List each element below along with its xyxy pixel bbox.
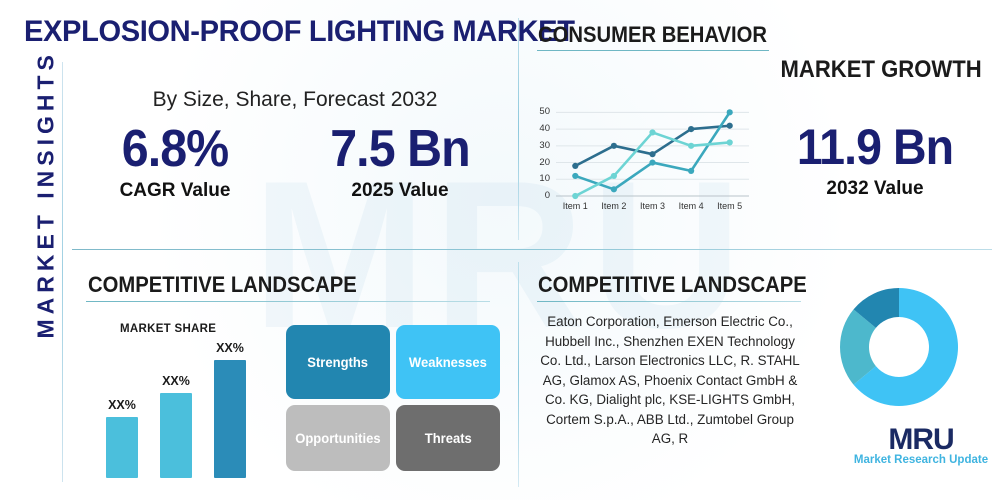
section-rule-competitive-left	[86, 301, 490, 302]
mru-logo: MRU Market Research Update	[852, 424, 990, 466]
page-title: EXPLOSION-PROOF LIGHTING MARKET	[24, 15, 490, 49]
line-chart-y-tick: 50	[532, 106, 550, 117]
swot-threats-label: Threats	[424, 430, 471, 446]
section-rule-competitive-right	[537, 301, 801, 302]
section-heading-competitive-landscape-left: COMPETITIVE LANDSCAPE	[88, 272, 357, 298]
swot-threats: Threats	[396, 405, 500, 471]
market-insights-side-label: MARKET INSIGHTS	[33, 79, 60, 339]
bar-value-label: XX%	[153, 374, 199, 388]
line-chart-x-tick: Item 3	[631, 201, 675, 211]
line-chart-x-tick: Item 1	[553, 201, 597, 211]
kpi-2025: 7.5 Bn 2025 Value	[290, 120, 510, 202]
section-heading-market-growth: MARKET GROWTH	[781, 56, 982, 84]
line-chart-y-tick: 20	[532, 157, 550, 168]
mru-logo-mark: MRU	[852, 424, 990, 456]
sidebar-divider	[62, 62, 63, 482]
bar-value-label: XX%	[207, 341, 253, 355]
line-chart-y-tick: 30	[532, 140, 550, 151]
kpi-2032-label: 2032 Value	[760, 178, 990, 200]
line-chart-y-tick: 0	[532, 190, 550, 201]
consumer-behavior-line-chart: 01020304050Item 1Item 2Item 3Item 4Item …	[530, 98, 755, 218]
kpi-cagr: 6.8% CAGR Value	[70, 120, 280, 202]
swot-weaknesses: Weaknesses	[396, 325, 500, 399]
infographic-page: MRU MARKET INSIGHTS EXPLOSION-PROOF LIGH…	[0, 0, 1000, 500]
line-chart-y-tick: 40	[532, 123, 550, 134]
line-chart-x-tick: Item 4	[669, 201, 713, 211]
bar	[160, 393, 192, 478]
market-share-bar-chart: XX%XX%XX%	[100, 318, 265, 478]
kpi-cagr-value: 6.8%	[77, 120, 272, 178]
kpi-2032-value: 11.9 Bn	[768, 118, 982, 176]
swot-weaknesses-label: Weaknesses	[409, 354, 487, 370]
bar	[106, 417, 138, 478]
section-heading-consumer-behavior: CONSUMER BEHAVIOR	[538, 22, 767, 48]
swot-opportunities: Opportunities	[286, 405, 390, 471]
vertical-divider-bottom	[518, 262, 519, 487]
kpi-2025-value: 7.5 Bn	[298, 120, 503, 178]
vertical-divider-top	[518, 18, 519, 240]
kpi-2025-label: 2025 Value	[290, 180, 510, 202]
line-chart-x-tick: Item 5	[708, 201, 752, 211]
competitor-list: Eaton Corporation, Emerson Electric Co.,…	[534, 312, 806, 449]
line-chart-x-tick: Item 2	[592, 201, 636, 211]
swot-opportunities-label: Opportunities	[295, 430, 380, 446]
market-segment-donut-chart	[838, 286, 960, 408]
kpi-2032: 11.9 Bn 2032 Value	[760, 118, 990, 200]
bar-value-label: XX%	[99, 398, 145, 412]
swot-strengths: Strengths	[286, 325, 390, 399]
line-chart-y-tick: 10	[532, 173, 550, 184]
section-heading-competitive-landscape-right: COMPETITIVE LANDSCAPE	[538, 272, 807, 298]
bar	[214, 360, 246, 478]
horizontal-divider	[72, 249, 992, 250]
swot-strengths-label: Strengths	[308, 354, 369, 370]
kpi-cagr-label: CAGR Value	[70, 180, 280, 202]
mru-logo-tagline: Market Research Update	[852, 454, 990, 466]
page-subtitle: By Size, Share, Forecast 2032	[80, 88, 510, 112]
section-rule-consumer-behavior	[537, 50, 769, 51]
